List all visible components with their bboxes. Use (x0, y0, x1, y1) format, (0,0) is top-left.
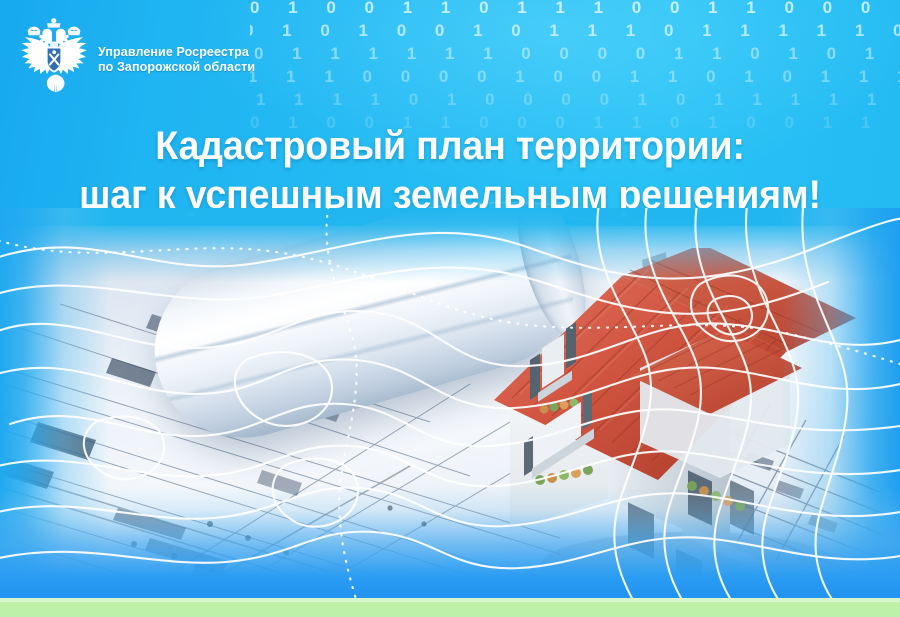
topographic-contour-overlay (0, 208, 900, 606)
headline-line-1: Кадастровый план территории: (27, 122, 873, 171)
headline: Кадастровый план территории: шаг к успеш… (0, 122, 900, 220)
bottom-accent-bar (0, 602, 900, 617)
rosreestr-emblem-icon (14, 14, 94, 96)
hero-photo (0, 208, 900, 606)
banner-root: 0 1 0 0 1 1 0 1 1 1 0 0 1 1 0 0 0 1 1 1 … (0, 0, 900, 617)
organization-name: Управление Росреестра по Запорожской обл… (98, 45, 313, 75)
org-name-line-2: по Запорожской области (98, 60, 313, 75)
org-name-line-1: Управление Росреестра (98, 45, 249, 59)
